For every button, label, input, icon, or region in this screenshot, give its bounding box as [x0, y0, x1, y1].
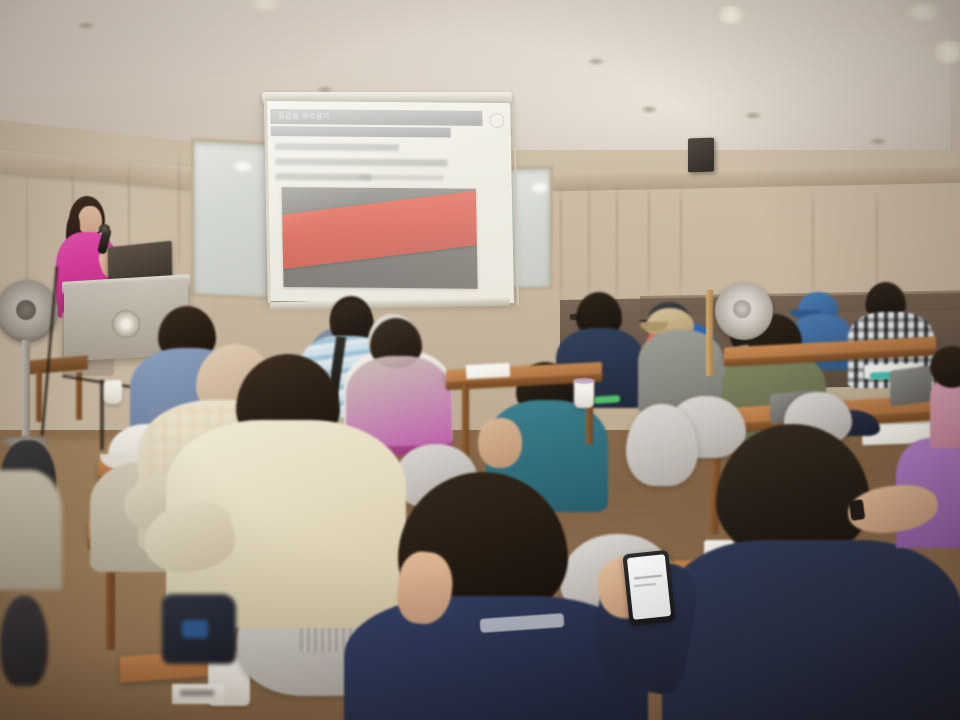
sprinkler-4: [588, 58, 604, 65]
chair-dark[interactable]: [0, 596, 48, 686]
desk-name-card-text: [180, 690, 214, 696]
sprinkler-7: [870, 138, 886, 145]
sprinkler-6: [745, 112, 761, 119]
microphone-head: [99, 224, 110, 233]
podium-emblem-icon: [112, 310, 140, 338]
wall-panel-seam: [876, 192, 878, 298]
glasses-p-navy-mid: [570, 314, 582, 320]
tablet-case: [890, 365, 932, 407]
wall-panel-seam: [648, 180, 650, 302]
downlight-3: [903, 4, 943, 20]
wall-panel-seam: [588, 180, 590, 308]
sprinkler-1: [78, 22, 94, 29]
downlight-1: [932, 40, 960, 64]
torso-left-edge-person: [0, 470, 62, 590]
desk-leg: [462, 384, 469, 460]
paper-sheet: [466, 363, 511, 379]
wall-panel-seam: [812, 190, 814, 300]
wall-speaker: [688, 138, 714, 173]
paper-cup: [574, 380, 594, 408]
pedestal-fan-post: [22, 340, 30, 440]
whiteboard-right: [507, 165, 553, 290]
wristwatch: [849, 499, 866, 521]
presenter-face: [78, 206, 102, 235]
wall-panel-seam: [178, 152, 180, 272]
wall-panel-seam: [616, 180, 618, 306]
chair[interactable]: [626, 404, 698, 486]
pedestal-fan-hub: [16, 300, 36, 320]
paper-cup: [104, 380, 122, 404]
downlight-2: [716, 6, 746, 24]
arm-p-teal: [478, 418, 522, 468]
projector-glare: [264, 101, 514, 303]
wall-fan-pole: [706, 290, 713, 376]
projection-screen: 응급실 바로알기 응급실 Emergency Room 急诊室: [264, 101, 514, 303]
side-table-leg: [36, 370, 42, 422]
cup-lid-ring: [573, 378, 595, 384]
wall-panel-seam: [560, 182, 562, 312]
sprinkler-5: [641, 106, 657, 113]
torso-p-front-blue: [662, 540, 960, 720]
bag-accent: [182, 620, 208, 638]
wall-panel-seam: [680, 182, 682, 300]
lecture-room-photo: 응급실 바로알기 응급실 Emergency Room 急诊室: [0, 0, 960, 720]
whiteboard-left: [191, 138, 271, 300]
wall-fan-hub: [733, 300, 751, 318]
